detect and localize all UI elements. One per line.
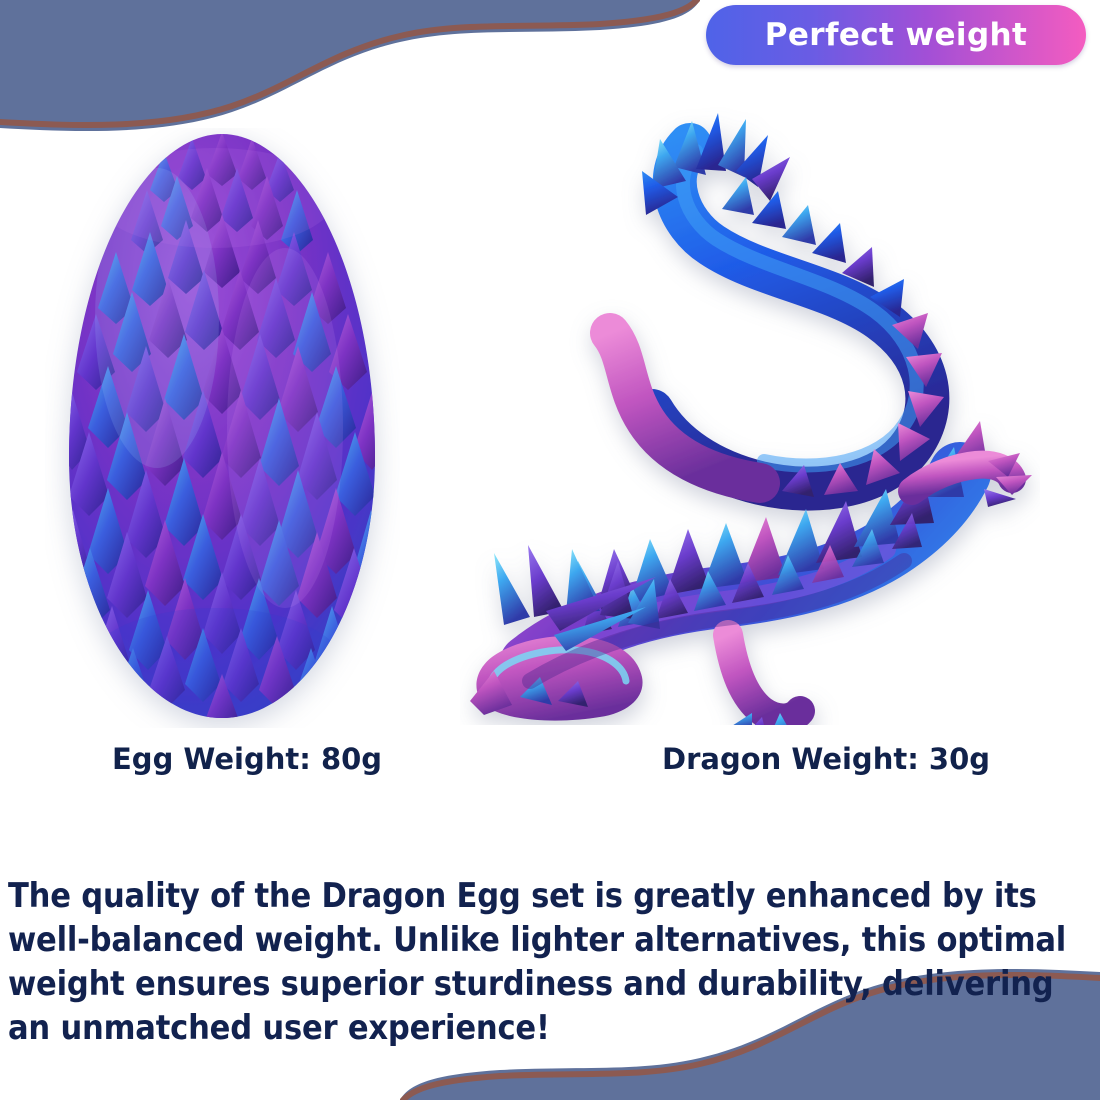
- egg-weight-caption: Egg Weight: 80g: [112, 742, 382, 776]
- perfect-weight-badge: Perfect weight: [706, 5, 1086, 65]
- crystal-dragon-image: [460, 105, 1040, 725]
- weight-captions: Egg Weight: 80g Dragon Weight: 30g: [0, 742, 1100, 792]
- description-paragraph: The quality of the Dragon Egg set is gre…: [8, 874, 1094, 1050]
- infographic-page: Perfect weight: [0, 0, 1100, 1100]
- dragon-egg-image: [45, 128, 400, 728]
- product-figures: [0, 100, 1100, 750]
- dragon-weight-caption: Dragon Weight: 30g: [662, 742, 990, 776]
- badge-label: Perfect weight: [765, 17, 1028, 53]
